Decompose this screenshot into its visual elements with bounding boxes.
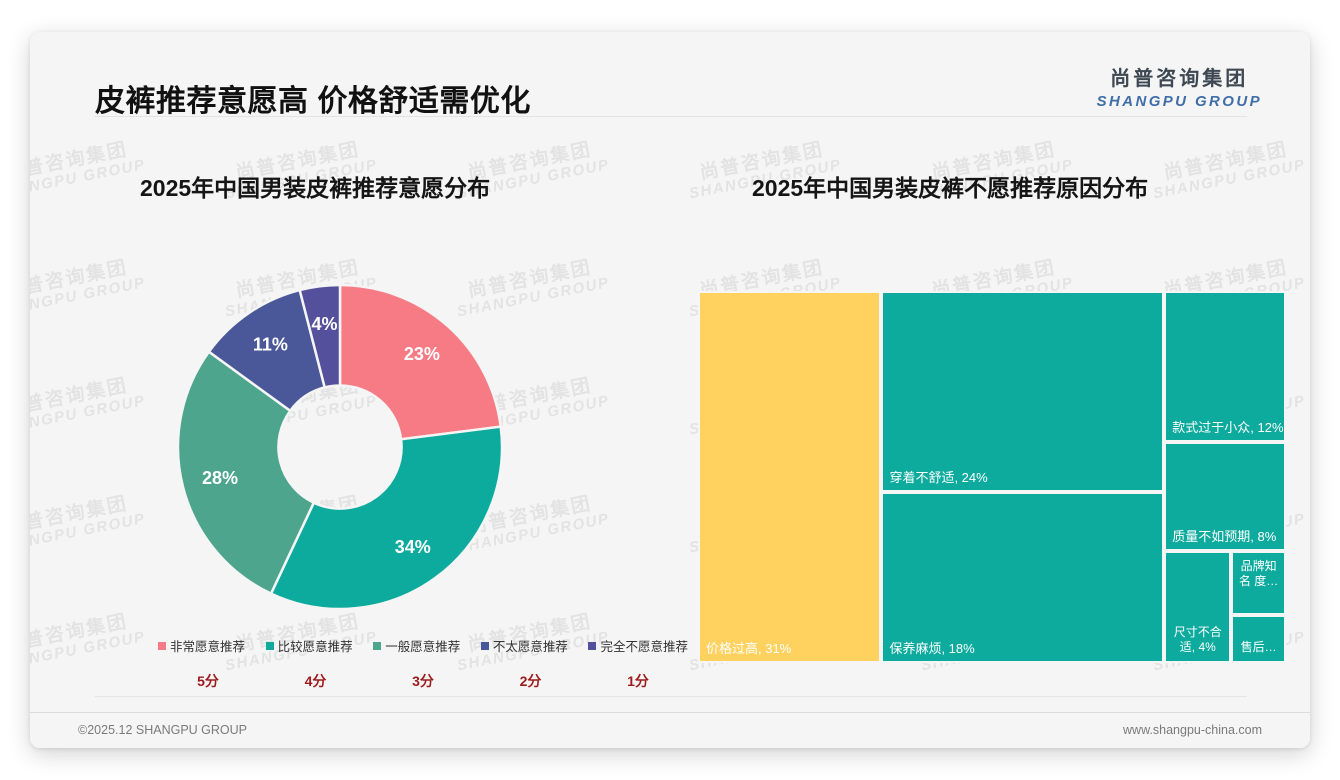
- donut-slice-label: 34%: [395, 537, 431, 557]
- legend-item[interactable]: 比较愿意推荐: [266, 636, 353, 655]
- donut-chart: 23%34%28%11%4%: [170, 277, 510, 617]
- treemap-cell-label: 质量不如预期, 8%: [1172, 529, 1280, 545]
- treemap-cell[interactable]: 品牌知名 度…: [1231, 551, 1286, 614]
- slide-card: 尚普咨询集团SHANGPU GROUP尚普咨询集团SHANGPU GROUP尚普…: [30, 32, 1310, 748]
- treemap-cell-label: 价格过高, 31%: [706, 641, 875, 657]
- legend-label: 比较愿意推荐: [278, 636, 353, 655]
- donut-chart-svg: 23%34%28%11%4%: [170, 277, 510, 617]
- treemap-cell[interactable]: 尺寸不合适, 4%: [1164, 551, 1231, 663]
- treemap-cell[interactable]: 款式过于小众, 12%: [1164, 291, 1286, 442]
- legend-swatch-icon: [158, 642, 166, 650]
- footnote-divider: [95, 696, 1247, 697]
- treemap-cell-label: 品牌知名 度…: [1237, 559, 1280, 589]
- header-divider: [95, 116, 1247, 117]
- footer-copyright: ©2025.12 SHANGPU GROUP: [78, 723, 247, 737]
- brand-logo: 尚普咨询集团 SHANGPU GROUP: [1097, 62, 1262, 110]
- donut-slice-label: 28%: [202, 468, 238, 488]
- treemap-cell[interactable]: 保养麻烦, 18%: [881, 492, 1164, 663]
- panels-container: 2025年中国男装皮裤推荐意愿分布 2025年中国男装皮裤不愿推荐原因分布 23…: [30, 32, 1310, 748]
- treemap-cell-label: 穿着不舒适, 24%: [889, 470, 1158, 486]
- treemap-cell-label: 售后…: [1237, 640, 1280, 655]
- legend-swatch-icon: [588, 642, 596, 650]
- legend-swatch-icon: [266, 642, 274, 650]
- treemap-chart: 价格过高, 31%穿着不舒适, 24%保养麻烦, 18%款式过于小众, 12%质…: [698, 291, 1286, 663]
- donut-slice-label: 4%: [311, 314, 337, 334]
- footer-website: www.shangpu-china.com: [1123, 723, 1262, 737]
- score-label: 1分: [588, 671, 688, 691]
- slide-header: 皮裤推荐意愿高 价格舒适需优化 尚普咨询集团 SHANGPU GROUP: [30, 32, 1310, 116]
- treemap-cell[interactable]: 价格过高, 31%: [698, 291, 881, 663]
- legend-label: 不太愿意推荐: [493, 636, 568, 655]
- left-chart-title: 2025年中国男装皮裤推荐意愿分布: [140, 169, 490, 203]
- page-title: 皮裤推荐意愿高 价格舒适需优化: [95, 76, 531, 120]
- slide-footer: ©2025.12 SHANGPU GROUP www.shangpu-china…: [30, 712, 1310, 748]
- score-label: 4分: [266, 671, 366, 691]
- treemap-cell[interactable]: 质量不如预期, 8%: [1164, 442, 1286, 551]
- legend-swatch-icon: [373, 642, 381, 650]
- legend-item[interactable]: 一般愿意推荐: [373, 636, 460, 655]
- treemap-cell[interactable]: 穿着不舒适, 24%: [881, 291, 1164, 492]
- treemap-cell-label: 款式过于小众, 12%: [1172, 420, 1280, 436]
- donut-slice-label: 23%: [404, 344, 440, 364]
- treemap-cell-label: 尺寸不合适, 4%: [1170, 625, 1225, 655]
- right-chart-title: 2025年中国男装皮裤不愿推荐原因分布: [752, 169, 1148, 203]
- brand-name-cn: 尚普咨询集团: [1097, 62, 1262, 91]
- donut-legend: 非常愿意推荐比较愿意推荐一般愿意推荐不太愿意推荐完全不愿意推荐: [158, 636, 688, 655]
- legend-item[interactable]: 非常愿意推荐: [158, 636, 245, 655]
- treemap-cell[interactable]: 售后…: [1231, 615, 1286, 663]
- legend-item[interactable]: 不太愿意推荐: [481, 636, 568, 655]
- legend-label: 一般愿意推荐: [385, 636, 460, 655]
- donut-slice-label: 11%: [253, 335, 288, 355]
- score-label: 2分: [481, 671, 581, 691]
- legend-item[interactable]: 完全不愿意推荐: [588, 636, 688, 655]
- brand-name-en: SHANGPU GROUP: [1097, 93, 1262, 110]
- legend-label: 非常愿意推荐: [170, 636, 245, 655]
- score-label: 3分: [373, 671, 473, 691]
- score-axis-row: 5分4分3分2分1分: [158, 671, 688, 691]
- legend-label: 完全不愿意推荐: [600, 636, 688, 655]
- treemap-cell-label: 保养麻烦, 18%: [889, 641, 1158, 657]
- score-label: 5分: [158, 671, 258, 691]
- legend-swatch-icon: [481, 642, 489, 650]
